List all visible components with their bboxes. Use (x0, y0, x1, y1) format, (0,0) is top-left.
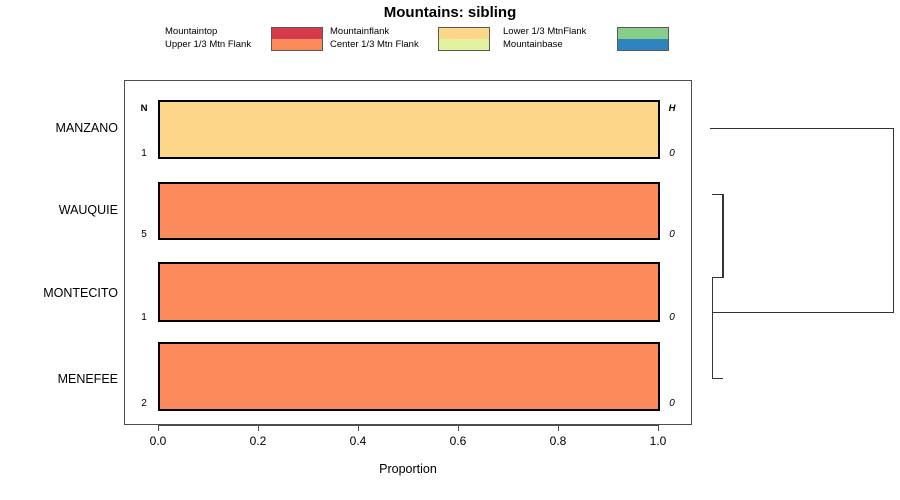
x-tick-label-1: 0.2 (236, 434, 280, 448)
n-value-wauquie: 5 (133, 229, 155, 240)
h-value-wauquie: 0 (661, 229, 683, 240)
n-value-montecito: 1 (133, 312, 155, 323)
page-title: Mountains: sibling (0, 4, 900, 21)
x-tick-label-4: 0.8 (536, 434, 580, 448)
category-label-wauquie: WAUQUIE (0, 203, 118, 217)
legend-swatch-mountainbase (618, 39, 668, 50)
x-tick-4 (558, 425, 559, 431)
bar-menefee[interactable] (158, 342, 660, 411)
legend-column-3: Lower 1/3 MtnFlank Mountainbase (503, 26, 673, 56)
legend-column-2: Mountainflank Center 1/3 Mtn Flank (330, 26, 490, 56)
chart-canvas: Mountains: sibling Mountaintop Upper 1/3… (0, 0, 900, 500)
legend-labels-3: Lower 1/3 MtnFlank Mountainbase (503, 26, 586, 51)
category-label-menefee: MENEFEE (0, 372, 118, 386)
dendrogram-cluster-a-vertical-lower (712, 312, 713, 379)
x-tick-3 (458, 425, 459, 431)
legend-swatch-lower-third-mtnflank (618, 28, 668, 39)
dendrogram-leaf-wauquie-stub (712, 194, 713, 195)
h-value-menefee: 0 (661, 398, 683, 409)
legend-label-mountainbase: Mountainbase (503, 39, 586, 52)
dendrogram-cluster-a-vertical-upper (712, 277, 713, 313)
x-tick-1 (258, 425, 259, 431)
legend-swatch-group-1 (271, 27, 323, 51)
legend-label-center-third-mtn-flank: Center 1/3 Mtn Flank (330, 39, 419, 52)
bar-manzano[interactable] (158, 100, 660, 159)
plot-area: N H 1 0 5 0 1 0 2 0 (124, 80, 692, 425)
n-value-menefee: 2 (133, 398, 155, 409)
x-axis-title: Proportion (124, 462, 692, 476)
dendrogram-leaf-menefee (712, 378, 723, 379)
h-value-montecito: 0 (661, 312, 683, 323)
x-axis: 0.0 0.2 0.4 0.6 0.8 1.0 (124, 425, 692, 465)
n-value-manzano: 1 (133, 148, 155, 159)
bar-montecito[interactable] (158, 262, 660, 322)
h-value-manzano: 0 (661, 148, 683, 159)
dendrogram-root-join (712, 312, 894, 313)
legend-swatch-group-3 (617, 27, 669, 51)
legend-labels-2: Mountainflank Center 1/3 Mtn Flank (330, 26, 419, 51)
n-column-header: N (133, 103, 155, 114)
dendrogram (700, 80, 900, 425)
x-tick-2 (358, 425, 359, 431)
legend-swatch-upper-third-mtn-flank (272, 39, 322, 50)
legend-label-mountaintop: Mountaintop (165, 26, 251, 39)
dendrogram-root-vertical (893, 128, 894, 313)
x-tick-label-2: 0.4 (336, 434, 380, 448)
dendrogram-leaf-manzano (710, 128, 894, 129)
legend-swatch-center-third-mtn-flank (439, 39, 489, 50)
legend-label-upper-third-mtn-flank: Upper 1/3 Mtn Flank (165, 39, 251, 52)
legend: Mountaintop Upper 1/3 Mtn Flank Mountain… (165, 26, 685, 56)
legend-swatch-group-2 (438, 27, 490, 51)
category-label-manzano: MANZANO (0, 121, 118, 135)
legend-labels-1: Mountaintop Upper 1/3 Mtn Flank (165, 26, 251, 51)
x-axis-line (158, 425, 659, 426)
legend-column-1: Mountaintop Upper 1/3 Mtn Flank (165, 26, 325, 56)
legend-label-lower-third-mtnflank: Lower 1/3 MtnFlank (503, 26, 586, 39)
x-tick-label-5: 1.0 (636, 434, 680, 448)
legend-swatch-mountainflank (439, 28, 489, 39)
x-tick-5 (658, 425, 659, 431)
x-tick-label-0: 0.0 (136, 434, 180, 448)
legend-label-mountainflank: Mountainflank (330, 26, 419, 39)
category-label-montecito: MONTECITO (0, 286, 118, 300)
legend-swatch-mountaintop (272, 28, 322, 39)
h-column-header: H (661, 103, 683, 114)
x-tick-0 (158, 425, 159, 431)
dendrogram-leaf-montecito (723, 194, 724, 278)
x-tick-label-3: 0.6 (436, 434, 480, 448)
dendrogram-leaf-wauquie (712, 194, 723, 195)
bar-wauquie[interactable] (158, 182, 660, 240)
